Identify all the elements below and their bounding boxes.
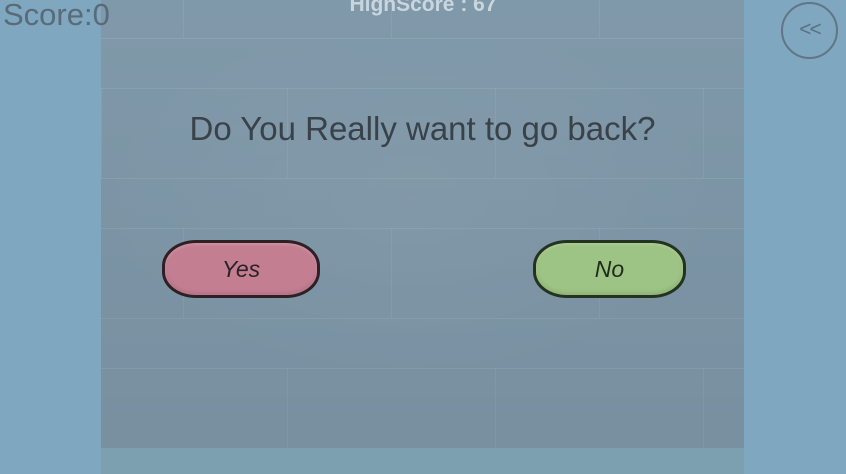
back-button[interactable]: << bbox=[781, 2, 838, 59]
dialog-title: Do You Really want to go back? bbox=[101, 110, 744, 148]
confirm-no-button[interactable]: No bbox=[533, 240, 686, 298]
background-bottom-band bbox=[101, 448, 744, 474]
confirm-no-label: No bbox=[595, 256, 624, 283]
highscore-display: HighScore : 67 bbox=[0, 0, 846, 17]
background-right-band bbox=[744, 0, 846, 474]
brick-wall-background bbox=[101, 0, 744, 474]
game-screen: Score:0 HighScore : 67 << Do You Really … bbox=[0, 0, 846, 474]
confirm-yes-label: Yes bbox=[222, 256, 260, 283]
background-left-band bbox=[0, 0, 101, 474]
double-chevron-left-icon: << bbox=[799, 19, 820, 40]
confirm-yes-button[interactable]: Yes bbox=[162, 240, 320, 298]
